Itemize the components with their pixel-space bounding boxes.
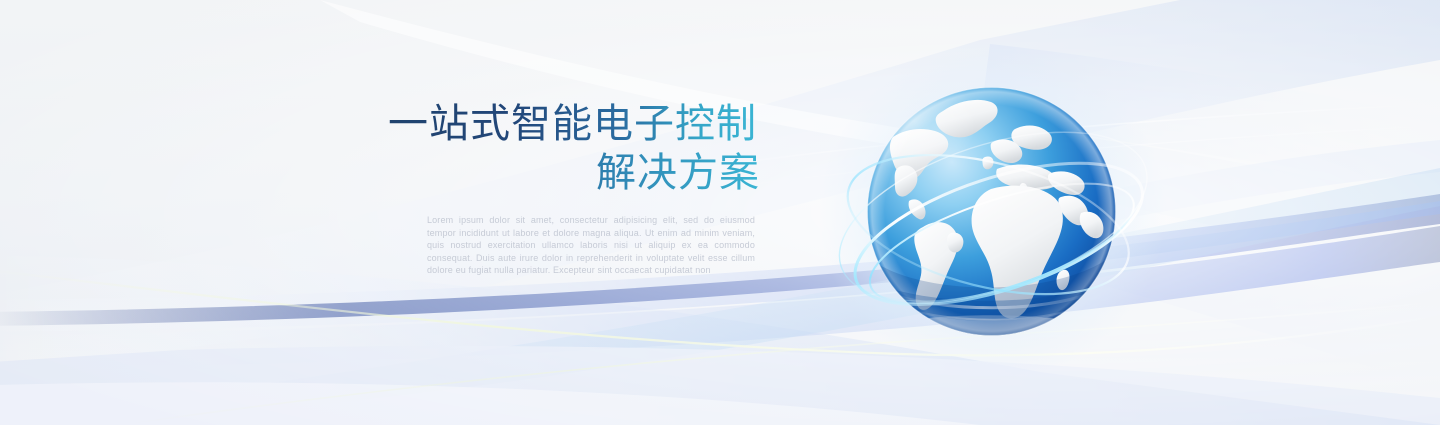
lede-paragraph: Lorem ipsum dolor sit amet, consectetur … <box>427 214 755 277</box>
page-title: 一站式智能电子控制 解决方案 <box>388 100 760 198</box>
center-glow <box>0 0 1440 425</box>
hero-banner: 一站式智能电子控制 解决方案 Lorem ipsum dolor sit ame… <box>0 0 1440 425</box>
globe-orbit-rings <box>865 85 1118 338</box>
globe-container <box>865 85 1118 338</box>
headline-line-1: 一站式智能电子控制 <box>388 100 760 149</box>
headline-line-2: 解决方案 <box>388 149 760 198</box>
